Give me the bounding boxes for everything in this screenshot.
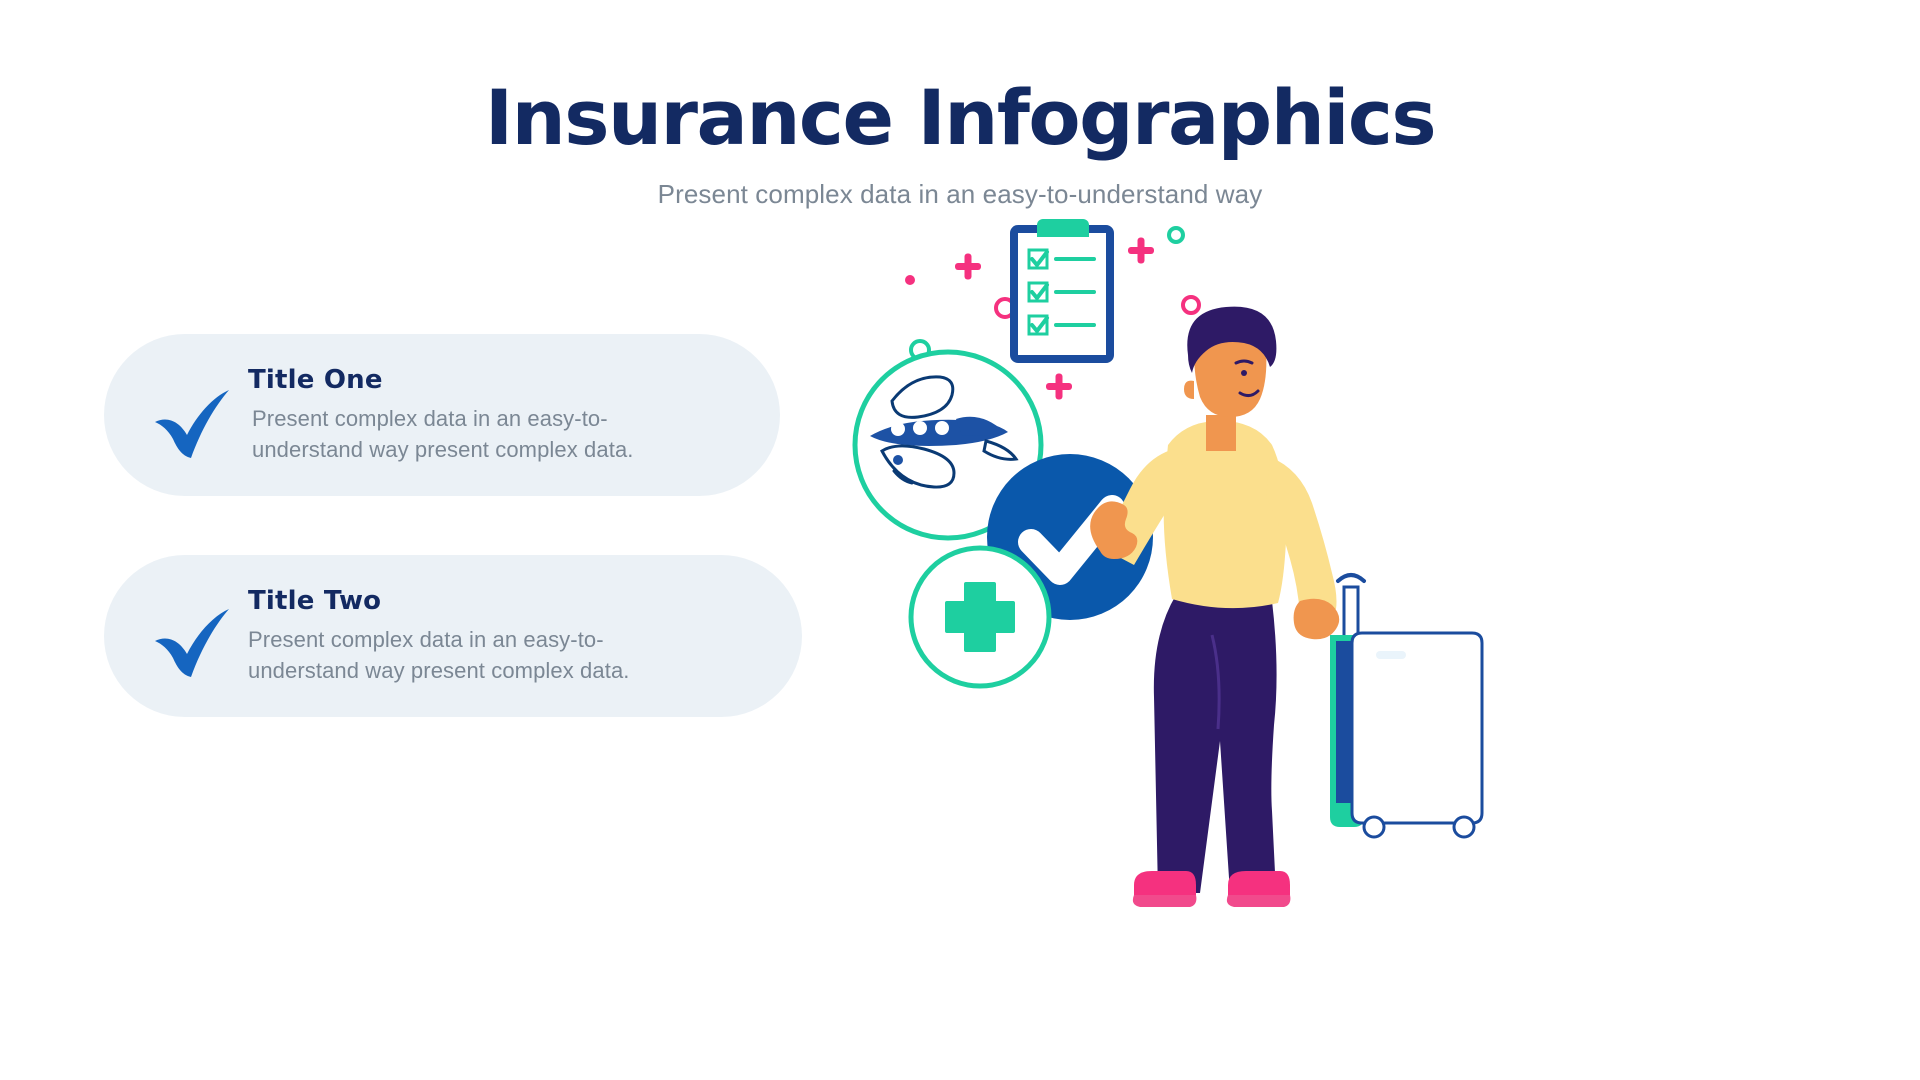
blue-checkmark-icon	[140, 386, 244, 464]
person-neck	[1206, 415, 1236, 451]
right-shoe	[1228, 871, 1290, 895]
feature-card-1-text: Title One Present complex data in an eas…	[244, 365, 740, 465]
feature-card-list: Title One Present complex data in an eas…	[104, 334, 802, 717]
person-eye	[1241, 370, 1247, 376]
feature-card-2-title: Title Two	[248, 586, 762, 616]
pink-dot-decoration	[905, 275, 915, 285]
pink-plus-decoration	[1128, 238, 1154, 264]
clipboard-with-checklist-icon	[1014, 219, 1110, 359]
suitcase-wheel	[1364, 817, 1384, 837]
person-holding-clipboard	[1090, 307, 1339, 907]
left-shoe-sole	[1133, 895, 1197, 907]
feature-card-1-description: Present complex data in an easy-to-under…	[252, 403, 682, 465]
suitcase-label	[1376, 651, 1406, 659]
suitcase-handle-grip	[1338, 575, 1364, 581]
right-shoe-sole	[1227, 895, 1291, 907]
suitcase-handle-post	[1344, 587, 1358, 639]
feature-card-2-description: Present complex data in an easy-to-under…	[248, 624, 678, 686]
feature-card-1[interactable]: Title One Present complex data in an eas…	[104, 334, 780, 496]
suitcase-body	[1352, 633, 1482, 823]
slide-canvas: Insurance Infographics Present complex d…	[0, 0, 1920, 1080]
pink-ring-decoration	[1183, 297, 1199, 313]
feature-card-1-title: Title One	[248, 365, 740, 395]
feature-card-2[interactable]: Title Two Present complex data in an eas…	[104, 555, 802, 717]
blue-checkmark-icon	[140, 605, 244, 683]
left-shoe	[1134, 871, 1196, 895]
page-title: Insurance Infographics	[0, 78, 1920, 157]
feature-card-2-text: Title Two Present complex data in an eas…	[244, 586, 762, 686]
person-ear	[1184, 381, 1194, 399]
pink-plus-decoration	[1046, 374, 1072, 400]
slide-header: Insurance Infographics Present complex d…	[0, 78, 1920, 210]
rolling-suitcase-icon	[1330, 575, 1482, 837]
pink-plus-decoration	[955, 254, 981, 280]
person-pants	[1154, 593, 1277, 893]
suitcase-wheel	[1454, 817, 1474, 837]
traveler-with-clipboard-and-suitcase-illustration	[838, 205, 1538, 855]
green-medical-cross-in-circle-icon	[911, 548, 1049, 686]
teal-ring-decoration	[1169, 228, 1183, 242]
